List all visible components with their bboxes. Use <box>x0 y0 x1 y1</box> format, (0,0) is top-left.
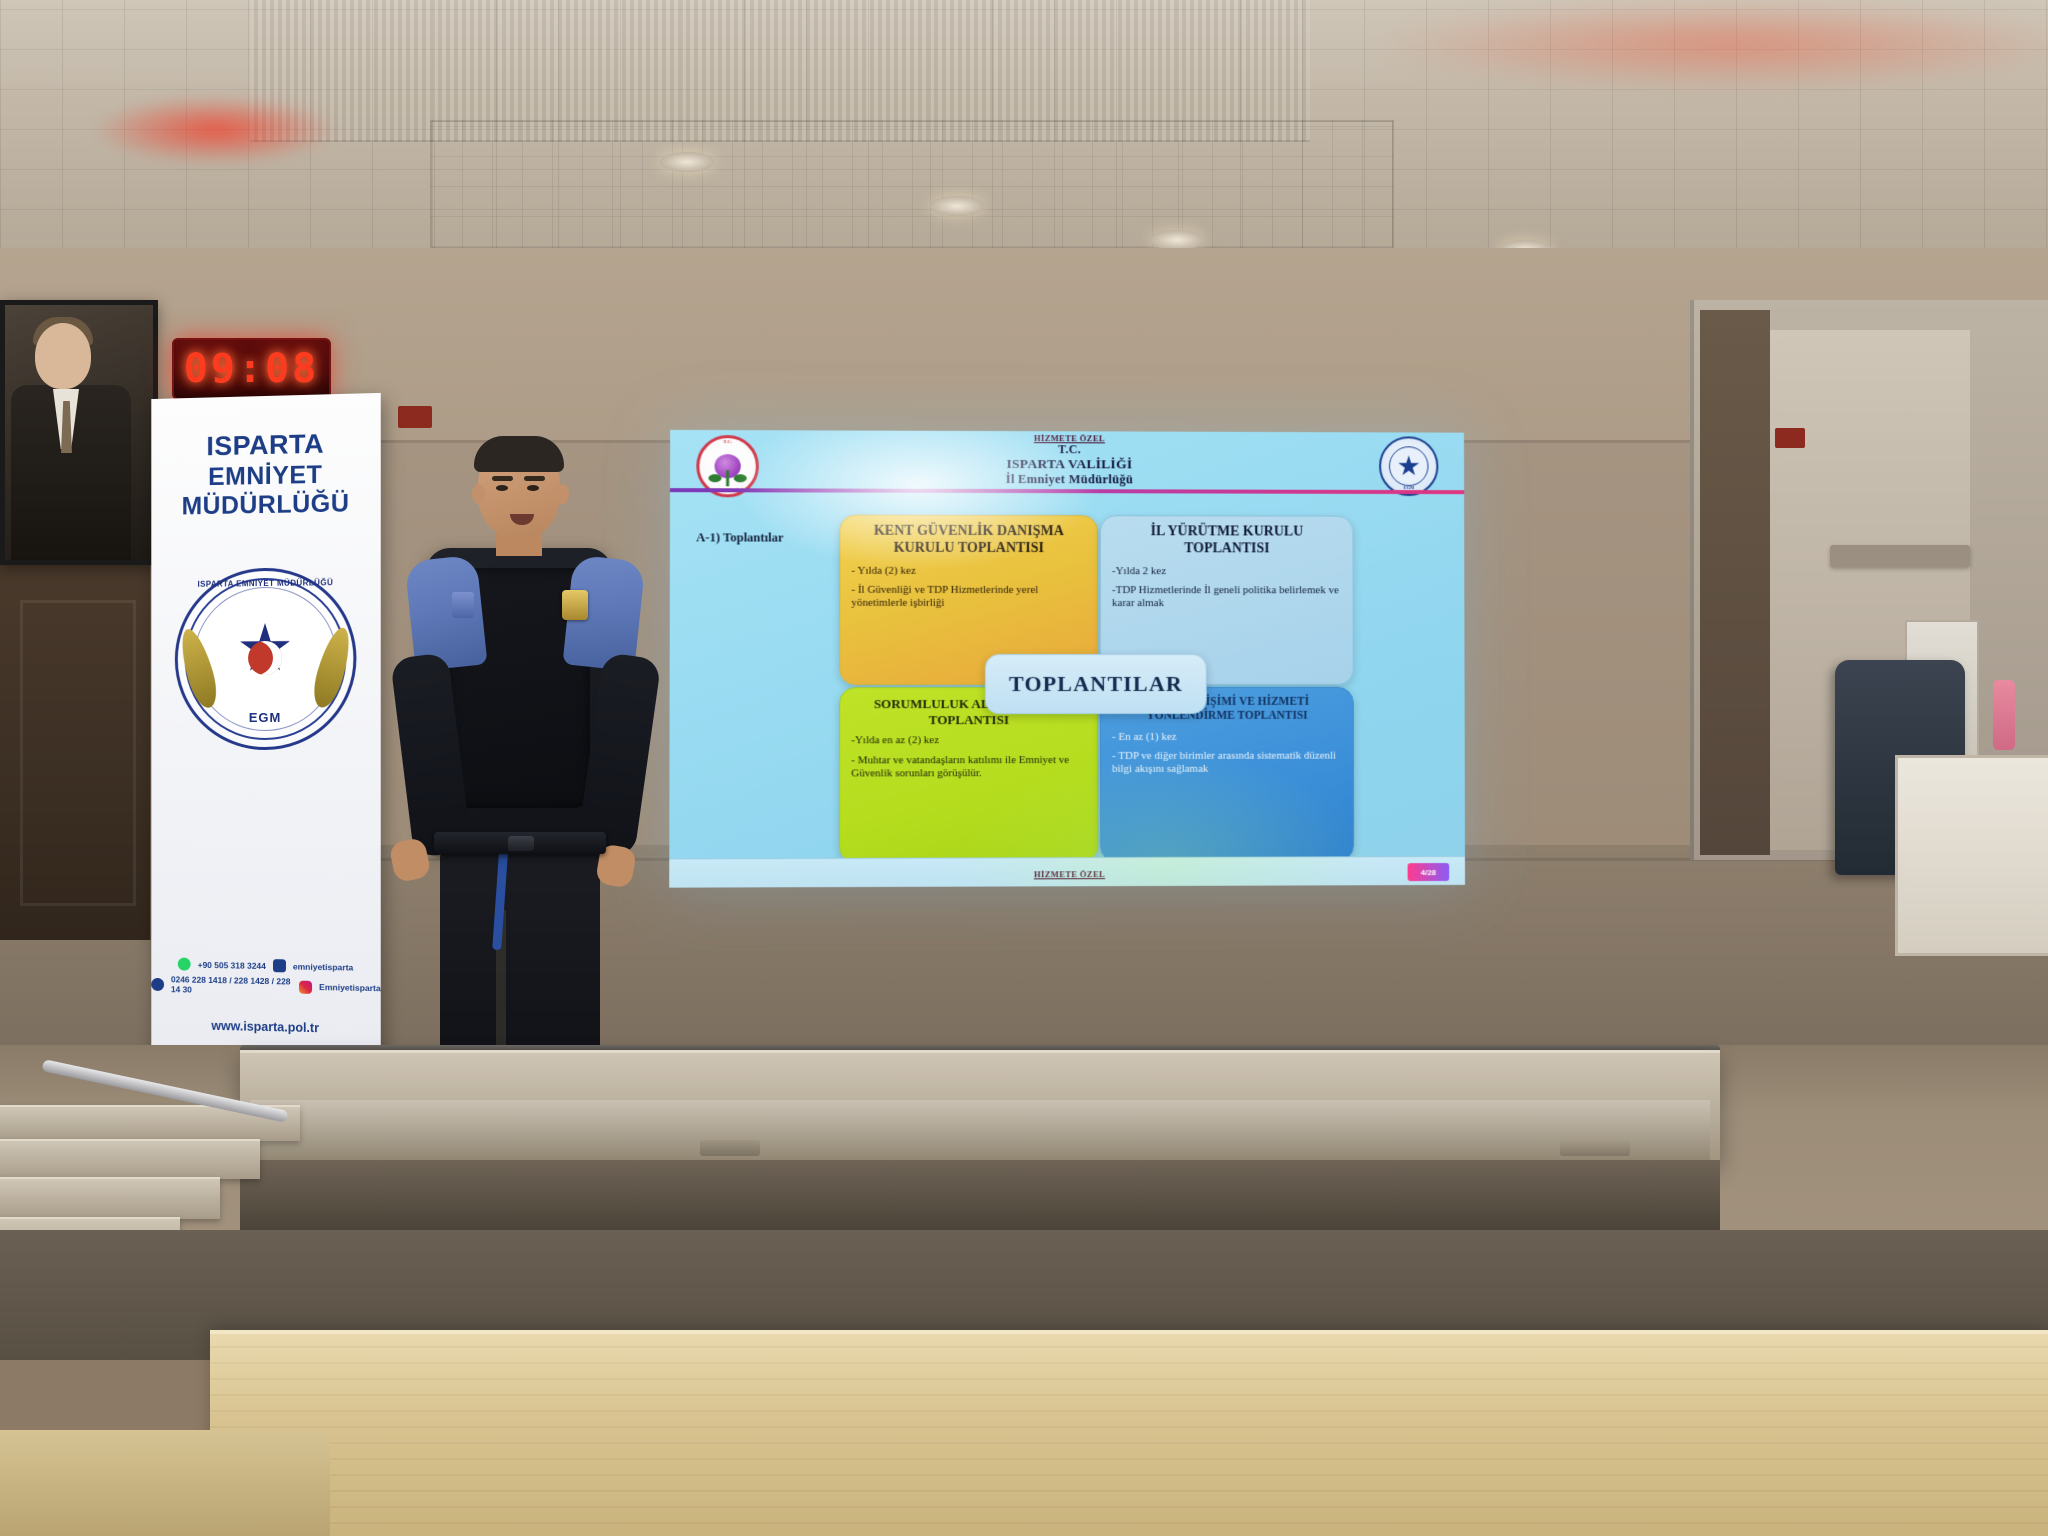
center-label-toplantilar: TOPLANTILAR <box>985 654 1207 714</box>
shoulder-patch <box>452 592 474 618</box>
emblem-arc-text: ISPARTA EMNİYET MÜDÜRLÜĞÜ <box>197 578 333 589</box>
belt-buckle <box>508 836 534 851</box>
left-door-panel <box>20 600 136 906</box>
stage-front-face <box>240 1160 1720 1230</box>
eye-right <box>527 485 539 491</box>
downlight-2 <box>930 196 984 216</box>
slide-page-badge: 4/28 <box>1408 863 1450 881</box>
contact-row: +90 505 318 3244 emniyetisparta <box>151 957 380 974</box>
banner-title: ISPARTA EMNİYET MÜDÜRLÜĞÜ <box>151 427 380 523</box>
ear-left <box>472 484 485 504</box>
downlight-3 <box>1150 230 1204 250</box>
digital-wall-clock: 09:08 <box>172 338 331 400</box>
box-bullet: - TDP ve diğer birimler arasında sistema… <box>1112 750 1342 777</box>
box-bullet: -Yılda 2 kez <box>1112 565 1342 579</box>
wooden-bench-front <box>210 1330 2048 1536</box>
clock-time: 09:08 <box>184 346 319 392</box>
contact-text: +90 505 318 3244 <box>198 959 266 970</box>
bench-wood-grain <box>210 1334 2048 1536</box>
contact-text: 0246 228 1418 / 228 1428 / 228 14 30 <box>171 974 292 996</box>
floor-vent <box>700 1140 760 1156</box>
box-bullet: - En az (1) kez <box>1112 730 1342 744</box>
banner-contacts: +90 505 318 3244 emniyetisparta 0246 228… <box>151 953 380 1002</box>
ceiling-red-light-right <box>1380 0 2048 90</box>
box-bullet: - Yılda (2) kez <box>851 564 1086 578</box>
exit-sign-left <box>398 406 432 428</box>
banner-title-line3: MÜDÜRLÜĞÜ <box>151 489 380 523</box>
box-bullet: -TDP Hizmetlerinde İl geneli politika be… <box>1112 584 1342 611</box>
photo-scene: 09:08 ISPARTA EMNİYET MÜDÜRLÜĞÜ ISPARTA … <box>0 0 2048 1536</box>
instagram-icon <box>299 980 312 993</box>
ceiling-red-light <box>90 95 340 165</box>
egm-star-icon <box>1398 455 1420 477</box>
downlight-1 <box>660 152 714 172</box>
step-2 <box>0 1139 260 1179</box>
eye-left <box>496 485 508 491</box>
box-bullet: - Muhtar ve vatandaşların katılımı ile E… <box>851 754 1086 781</box>
police-emblem: ISPARTA EMNİYET MÜDÜRLÜĞÜ EGM <box>175 567 357 750</box>
box-bullet: - İl Güvenliği ve TDP Hizmetlerinde yere… <box>851 584 1086 611</box>
contact-text: emniyetisparta <box>293 961 353 972</box>
phone-icon <box>151 977 164 990</box>
slide-header-text: HİZMETE ÖZEL T.C. ISPARTA VALİLİĞİ İl Em… <box>670 432 1464 487</box>
projection-screen: T.C. ISPARTA VALİLİĞİ HİZMETE ÖZEL T.C. … <box>669 430 1465 888</box>
box-heading: KENT GÜVENLİK DANIŞMA KURULU TOPLANTISI <box>851 524 1086 558</box>
eyebrow-left <box>492 476 513 481</box>
facebook-icon <box>273 959 286 972</box>
page-number: 4/28 <box>1421 868 1436 877</box>
egm-seal-icon: EGM <box>1379 436 1438 496</box>
shoulder-left <box>404 555 487 672</box>
portrait-face <box>35 323 91 389</box>
eyebrow-right <box>524 476 545 481</box>
whiteboard-panel <box>1895 755 2048 956</box>
contact-row: 0246 228 1418 / 228 1428 / 228 14 30 Emn… <box>151 974 380 998</box>
ear-right <box>556 484 569 504</box>
center-label-text: TOPLANTILAR <box>1009 671 1183 697</box>
ceiling-panel-lower <box>430 120 1394 249</box>
contact-text: Emniyetisparta <box>319 982 381 993</box>
slide-header: T.C. ISPARTA VALİLİĞİ HİZMETE ÖZEL T.C. … <box>670 430 1464 494</box>
egm-seal-inner <box>1389 446 1429 486</box>
emblem-crescent-icon <box>248 641 282 675</box>
header-divider <box>670 488 1464 494</box>
whatsapp-icon <box>178 958 191 971</box>
emblem-egm-label: EGM <box>249 710 282 725</box>
banner-website: www.isparta.pol.tr <box>151 1018 380 1037</box>
right-doorway <box>1700 310 1770 855</box>
box-heading: İL YÜRÜTME KURULU TOPLANTISI <box>1112 524 1342 558</box>
ataturk-portrait <box>0 300 158 565</box>
rollup-banner: ISPARTA EMNİYET MÜDÜRLÜĞÜ ISPARTA EMNİYE… <box>151 393 380 1089</box>
banner-title-line1: ISPARTA <box>151 427 380 464</box>
coat-rack <box>1830 545 1970 567</box>
exit-sign-right <box>1775 428 1805 448</box>
hair <box>474 436 564 472</box>
uniform-badge <box>562 590 588 620</box>
header-line-mudurluk: İl Emniyet Müdürlüğü <box>670 471 1464 487</box>
stage-glass-front <box>250 1100 1710 1160</box>
wooden-bench-left <box>0 1430 330 1536</box>
presentation-slide: T.C. ISPARTA VALİLİĞİ HİZMETE ÖZEL T.C. … <box>669 430 1465 888</box>
classification-bottom: HİZMETE ÖZEL <box>1034 869 1105 879</box>
floor-outlet <box>1560 1140 1630 1156</box>
section-label: A-1) Toplantılar <box>696 530 783 545</box>
step-3 <box>0 1177 220 1219</box>
water-bottle <box>1993 680 2015 750</box>
box-bullet: -Yılda en az (2) kez <box>851 734 1086 748</box>
